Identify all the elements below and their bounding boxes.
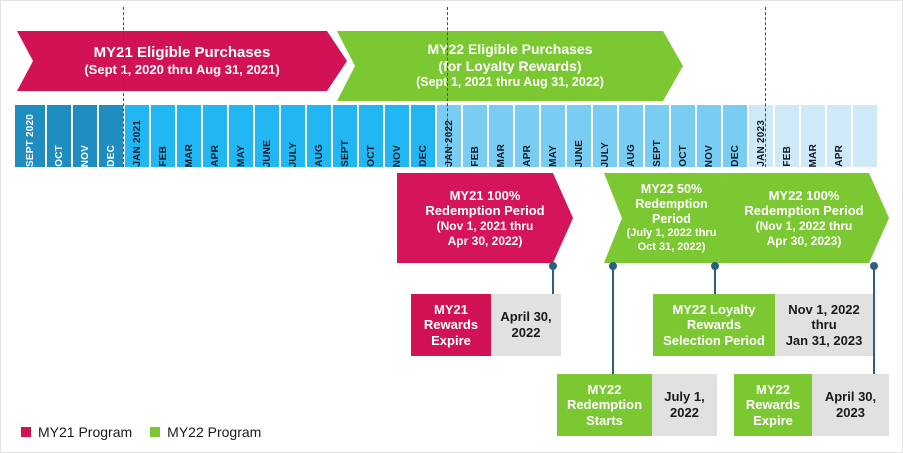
month-label: APR (210, 140, 221, 167)
legend-swatch-icon (21, 427, 31, 437)
month-cell: MAR (177, 105, 201, 167)
banner-my22-50-redemption-period: MY22 50% Redemption Period (July 1, 2022… (604, 173, 739, 263)
callout-my22-starts-label-line2: Redemption (567, 397, 642, 413)
callout-my22-selection-label: MY22 Loyalty Rewards Selection Period (653, 294, 775, 356)
month-label: APR (834, 140, 845, 167)
month-label: MAY (236, 140, 247, 167)
legend-label: MY22 Program (167, 424, 261, 440)
callout-my21-expire-label-line3: Expire (424, 333, 478, 349)
month-cell: AUG (619, 105, 643, 167)
month-cell: NOV (73, 105, 97, 167)
banner-my22-eligible-line2: (for Loyalty Rewards) (416, 58, 604, 75)
banner-my22-100-line1: MY22 100% (744, 188, 863, 204)
month-cell: SEPT 2020 (15, 105, 45, 167)
callout-my22-selection-label-line2: Rewards (663, 317, 765, 333)
callout-my22-redemption-starts: MY22 Redemption Starts July 1, 2022 (557, 374, 717, 436)
callout-my22-selection-value-line1: Nov 1, 2022 (786, 302, 863, 318)
month-cell: OCT (671, 105, 695, 167)
callout-my22-expire-value-line2: 2023 (825, 405, 876, 421)
callout-my22-loyalty-selection-period: MY22 Loyalty Rewards Selection Period No… (653, 294, 873, 356)
callout-my22-expire-value: April 30, 2023 (812, 374, 889, 436)
banner-my22-50-line4: (July 1, 2022 thru (627, 227, 717, 240)
month-cell-blank (853, 105, 877, 167)
month-cell: APR (515, 105, 539, 167)
banner-my22-100-line2: Redemption Period (744, 203, 863, 219)
callout-my22-starts-value-line2: 2022 (664, 405, 704, 421)
month-cell: APR (203, 105, 227, 167)
callout-my22-selection-label-line1: MY22 Loyalty (663, 302, 765, 318)
month-cell: DEC (411, 105, 435, 167)
month-label: MAR (496, 139, 507, 167)
legend: MY21 ProgramMY22 Program (21, 424, 261, 440)
banner-my21-redemption-line2: Redemption Period (425, 203, 544, 219)
month-cell: JULY (281, 105, 305, 167)
month-label: AUG (626, 139, 637, 167)
year-divider-2022 (447, 7, 448, 167)
banner-my21-redemption-line1: MY21 100% (425, 188, 544, 204)
connector-my22-redemption-starts (612, 266, 614, 376)
month-cell: FEB (151, 105, 175, 167)
month-cell: JAN 2023 (749, 105, 773, 167)
month-cell: MAY (541, 105, 565, 167)
banner-my22-50-line1: MY22 50% (627, 182, 717, 197)
month-label: SEPT 2020 (25, 109, 36, 167)
callout-my22-expire-label-line2: Rewards (746, 397, 800, 413)
month-cell: APR (827, 105, 851, 167)
callout-my22-starts-label-line3: Starts (567, 413, 642, 429)
callout-my22-rewards-expire: MY22 Rewards Expire April 30, 2023 (734, 374, 889, 436)
callout-my21-expire-value-line1: April 30, (500, 309, 551, 325)
month-label: OCT (54, 140, 65, 167)
month-label: OCT (366, 140, 377, 167)
callout-my22-expire-value-line1: April 30, (825, 389, 876, 405)
month-cell: MAY (229, 105, 253, 167)
month-label: JULY (288, 137, 299, 167)
callout-my21-expire-label-line1: MY21 (424, 302, 478, 318)
month-cell: JUNE (255, 105, 279, 167)
legend-item: MY22 Program (150, 424, 261, 440)
month-label: JAN 2022 (444, 115, 455, 167)
month-cell: DEC (723, 105, 747, 167)
month-label: NOV (80, 140, 91, 167)
banner-my22-100-line3: (Nov 1, 2022 thru (744, 219, 863, 234)
callout-my22-expire-label: MY22 Rewards Expire (734, 374, 812, 436)
month-cell: OCT (47, 105, 71, 167)
callout-my21-expire-label: MY21 Rewards Expire (411, 294, 491, 356)
banner-my21-eligible-purchases: MY21 Eligible Purchases (Sept 1, 2020 th… (17, 31, 347, 91)
month-label: JULY (600, 137, 611, 167)
month-label: OCT (678, 140, 689, 167)
callout-my22-starts-label: MY22 Redemption Starts (557, 374, 652, 436)
month-cell: JAN 2022 (437, 105, 461, 167)
banner-my21-redemption-line4: Apr 30, 2022) (425, 234, 544, 249)
callout-my22-selection-value-line2: thru (786, 317, 863, 333)
month-cell: AUG (307, 105, 331, 167)
year-divider-2021 (123, 7, 124, 167)
month-label: JUNE (574, 135, 585, 167)
banner-my21-redemption-period: MY21 100% Redemption Period (Nov 1, 2021… (397, 173, 573, 263)
banner-my22-50-line3: Period (627, 212, 717, 227)
month-cell: MAR (801, 105, 825, 167)
month-label: SEPT (340, 135, 351, 167)
month-cell: NOV (385, 105, 409, 167)
month-label: DEC (106, 140, 117, 167)
banner-my22-eligible-line3: (Sept 1, 2021 thru Aug 31, 2022) (416, 75, 604, 90)
month-cell: JUNE (567, 105, 591, 167)
month-label: AUG (314, 139, 325, 167)
month-label: APR (522, 140, 533, 167)
banner-my22-100-redemption-period: MY22 100% Redemption Period (Nov 1, 2022… (719, 173, 889, 263)
month-cell: JAN 2021 (125, 105, 149, 167)
month-cell: NOV (697, 105, 721, 167)
month-label: FEB (470, 141, 481, 167)
month-cell: JULY (593, 105, 617, 167)
month-label: JUNE (262, 135, 273, 167)
month-label: FEB (158, 141, 169, 167)
month-label: JAN 2021 (132, 115, 143, 167)
month-label: DEC (418, 140, 429, 167)
callout-my22-selection-value-line3: Jan 31, 2023 (786, 333, 863, 349)
legend-label: MY21 Program (38, 424, 132, 440)
callout-my21-expire-label-line2: Rewards (424, 317, 478, 333)
callout-my22-starts-label-line1: MY22 (567, 382, 642, 398)
banner-my22-eligible-line1: MY22 Eligible Purchases (416, 41, 604, 58)
banner-my21-eligible-line2: (Sept 1, 2020 thru Aug 31, 2021) (84, 62, 279, 78)
month-label: SEPT (652, 135, 663, 167)
callout-my22-starts-value: July 1, 2022 (652, 374, 717, 436)
month-cell: SEPT (333, 105, 357, 167)
callout-my22-selection-label-line3: Selection Period (663, 333, 765, 349)
callout-my22-expire-label-line1: MY22 (746, 382, 800, 398)
month-cell: FEB (463, 105, 487, 167)
month-cell: FEB (775, 105, 799, 167)
banner-my21-redemption-line3: (Nov 1, 2021 thru (425, 219, 544, 234)
callout-my21-rewards-expire: MY21 Rewards Expire April 30, 2022 (411, 294, 561, 356)
month-cell: OCT (359, 105, 383, 167)
month-label: DEC (730, 140, 741, 167)
banner-my22-100-line4: Apr 30, 2023) (744, 234, 863, 249)
callout-my21-expire-value: April 30, 2022 (491, 294, 561, 356)
connector-my22-loyalty-selection (714, 266, 716, 296)
legend-swatch-icon (150, 427, 160, 437)
banner-my22-50-line2: Redemption (627, 197, 717, 212)
month-label: FEB (782, 141, 793, 167)
banner-my21-eligible-line1: MY21 Eligible Purchases (84, 44, 279, 62)
month-cell: MAR (489, 105, 513, 167)
connector-my22-rewards-expire (873, 266, 875, 376)
timeline-diagram: MY21 Eligible Purchases (Sept 1, 2020 th… (0, 0, 903, 453)
callout-my22-starts-value-line1: July 1, (664, 389, 704, 405)
callout-my21-expire-value-line2: 2022 (500, 325, 551, 341)
connector-my21-rewards-expire (552, 266, 554, 296)
month-label: MAY (548, 140, 559, 167)
month-label: NOV (392, 140, 403, 167)
month-label: MAR (808, 139, 819, 167)
year-divider-2023 (765, 7, 766, 167)
banner-my22-eligible-purchases: MY22 Eligible Purchases (for Loyalty Rew… (337, 31, 683, 101)
banner-my22-50-line5: Oct 31, 2022) (627, 241, 717, 254)
legend-item: MY21 Program (21, 424, 132, 440)
callout-my22-expire-label-line3: Expire (746, 413, 800, 429)
month-label: NOV (704, 140, 715, 167)
month-cell: DEC (99, 105, 123, 167)
month-label: MAR (184, 139, 195, 167)
callout-my22-selection-value: Nov 1, 2022 thru Jan 31, 2023 (775, 294, 873, 356)
month-cell: SEPT (645, 105, 669, 167)
